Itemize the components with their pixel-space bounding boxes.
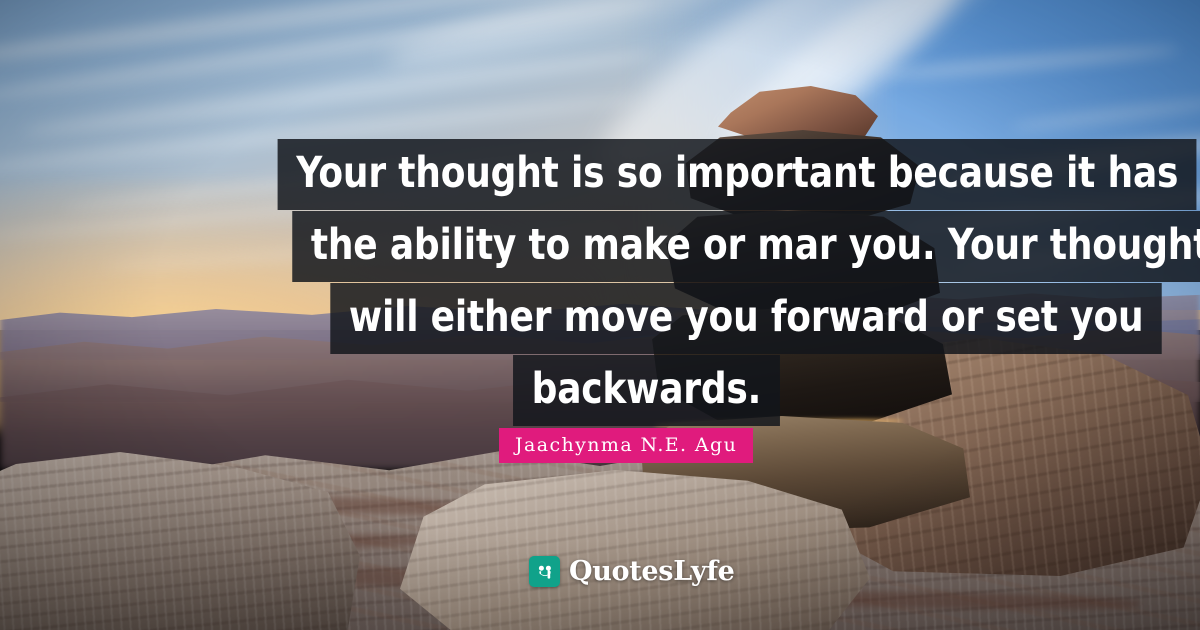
quote-line-4: backwards. [513,355,780,426]
quote-smiley-icon [529,556,560,587]
quote-line-1: Your thought is so important because it … [278,139,1197,210]
brand-name: QuotesLyfe [569,556,735,587]
author-attribution: Jaachynma N.E. Agu [499,428,753,463]
quote-line-3: will either move you forward or set you [330,283,1162,354]
quote-overlay: Your thought is so important because it … [0,0,1200,630]
brand-watermark[interactable]: QuotesLyfe [529,556,735,587]
quote-card: Your thought is so important because it … [0,0,1200,630]
quote-line-2: the ability to make or mar you. Your tho… [292,211,1200,282]
